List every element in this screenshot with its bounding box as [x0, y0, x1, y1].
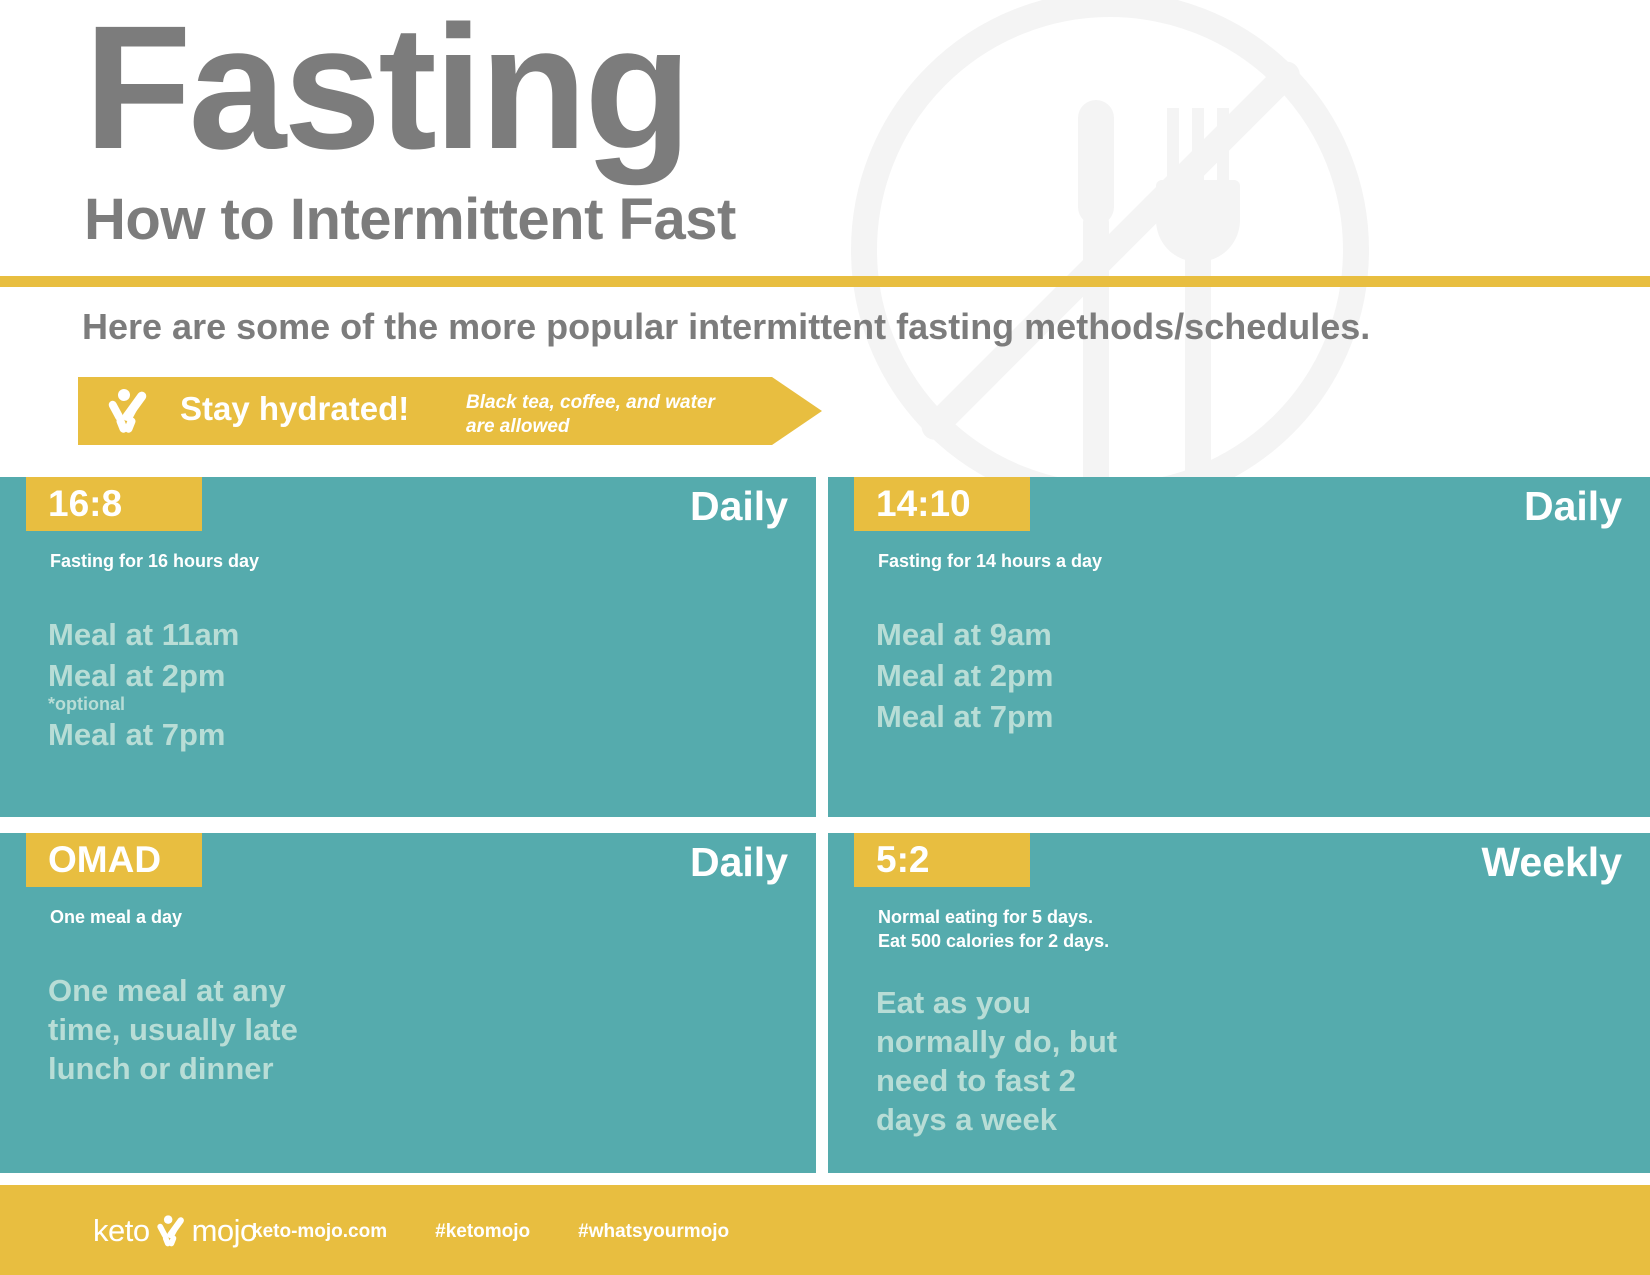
- meal-line: Meal at 2pm: [48, 656, 239, 697]
- panel-cadence-16-8: Daily: [690, 483, 788, 530]
- keto-mojo-person-icon: [154, 1214, 188, 1248]
- panel-omad: OMAD Daily One meal a day One meal at an…: [0, 833, 816, 1173]
- panel-tag-5-2: 5:2: [854, 833, 1030, 887]
- footer-logo-right: mojo: [192, 1213, 257, 1249]
- panel-14-10: 14:10 Daily Fasting for 14 hours a day M…: [828, 477, 1650, 817]
- hydration-banner: Stay hydrated! Black tea, coffee, and wa…: [78, 377, 822, 445]
- meal-line: One meal at any time, usually late lunch…: [48, 971, 318, 1088]
- page-footer: keto mojo keto-mojo.com #ketomojo #whats…: [0, 1185, 1650, 1275]
- infographic-page: Fasting How to Intermittent Fast Here ar…: [0, 0, 1650, 1275]
- panel-detail-14-10: Meal at 9am Meal at 2pm Meal at 7pm: [876, 615, 1053, 738]
- page-subtitle: How to Intermittent Fast: [84, 186, 736, 253]
- hydration-note: Black tea, coffee, and water are allowed: [466, 391, 726, 440]
- panel-cadence-5-2: Weekly: [1481, 839, 1622, 886]
- footer-link-hashtag-ketomojo[interactable]: #ketomojo: [435, 1221, 530, 1243]
- panel-cadence-14-10: Daily: [1524, 483, 1622, 530]
- panel-cadence-omad: Daily: [690, 839, 788, 886]
- panel-subnote-14-10: Fasting for 14 hours a day: [878, 549, 1102, 573]
- keto-mojo-person-icon: [104, 387, 152, 435]
- panel-subnote-omad: One meal a day: [50, 905, 182, 929]
- page-title: Fasting: [84, 0, 689, 181]
- panel-tag-14-10: 14:10: [854, 477, 1030, 531]
- meal-line: Meal at 11am: [48, 615, 239, 656]
- page-header: Fasting How to Intermittent Fast: [0, 0, 1650, 286]
- meal-line: Meal at 7pm: [48, 715, 239, 756]
- footer-link-hashtag-whatsyourmojo[interactable]: #whatsyourmojo: [578, 1221, 729, 1243]
- panel-detail-16-8: Meal at 11am Meal at 2pm *optional Meal …: [48, 615, 239, 756]
- panel-detail-omad: One meal at any time, usually late lunch…: [48, 971, 318, 1088]
- meal-line: Meal at 2pm: [876, 656, 1053, 697]
- panel-subnote-5-2: Normal eating for 5 days. Eat 500 calori…: [878, 905, 1109, 954]
- footer-link-website[interactable]: keto-mojo.com: [252, 1221, 387, 1243]
- footer-logo-left: keto: [93, 1213, 150, 1249]
- panel-detail-5-2: Eat as you normally do, but need to fast…: [876, 983, 1146, 1139]
- footer-links: keto-mojo.com #ketomojo #whatsyourmojo: [252, 1221, 729, 1243]
- panel-5-2: 5:2 Weekly Normal eating for 5 days. Eat…: [828, 833, 1650, 1173]
- intro-text: Here are some of the more popular interm…: [82, 306, 1370, 348]
- panel-subnote-16-8: Fasting for 16 hours day: [50, 549, 259, 573]
- panel-tag-omad: OMAD: [26, 833, 202, 887]
- meal-line: Meal at 9am: [876, 615, 1053, 656]
- meal-line: Eat as you normally do, but need to fast…: [876, 983, 1146, 1139]
- hydration-title: Stay hydrated!: [180, 390, 409, 428]
- footer-logo: keto mojo: [93, 1213, 257, 1249]
- meal-line: Meal at 7pm: [876, 697, 1053, 738]
- panel-tag-16-8: 16:8: [26, 477, 202, 531]
- header-divider: [0, 276, 1650, 287]
- optional-note: *optional: [48, 695, 239, 715]
- panel-16-8: 16:8 Daily Fasting for 16 hours day Meal…: [0, 477, 816, 817]
